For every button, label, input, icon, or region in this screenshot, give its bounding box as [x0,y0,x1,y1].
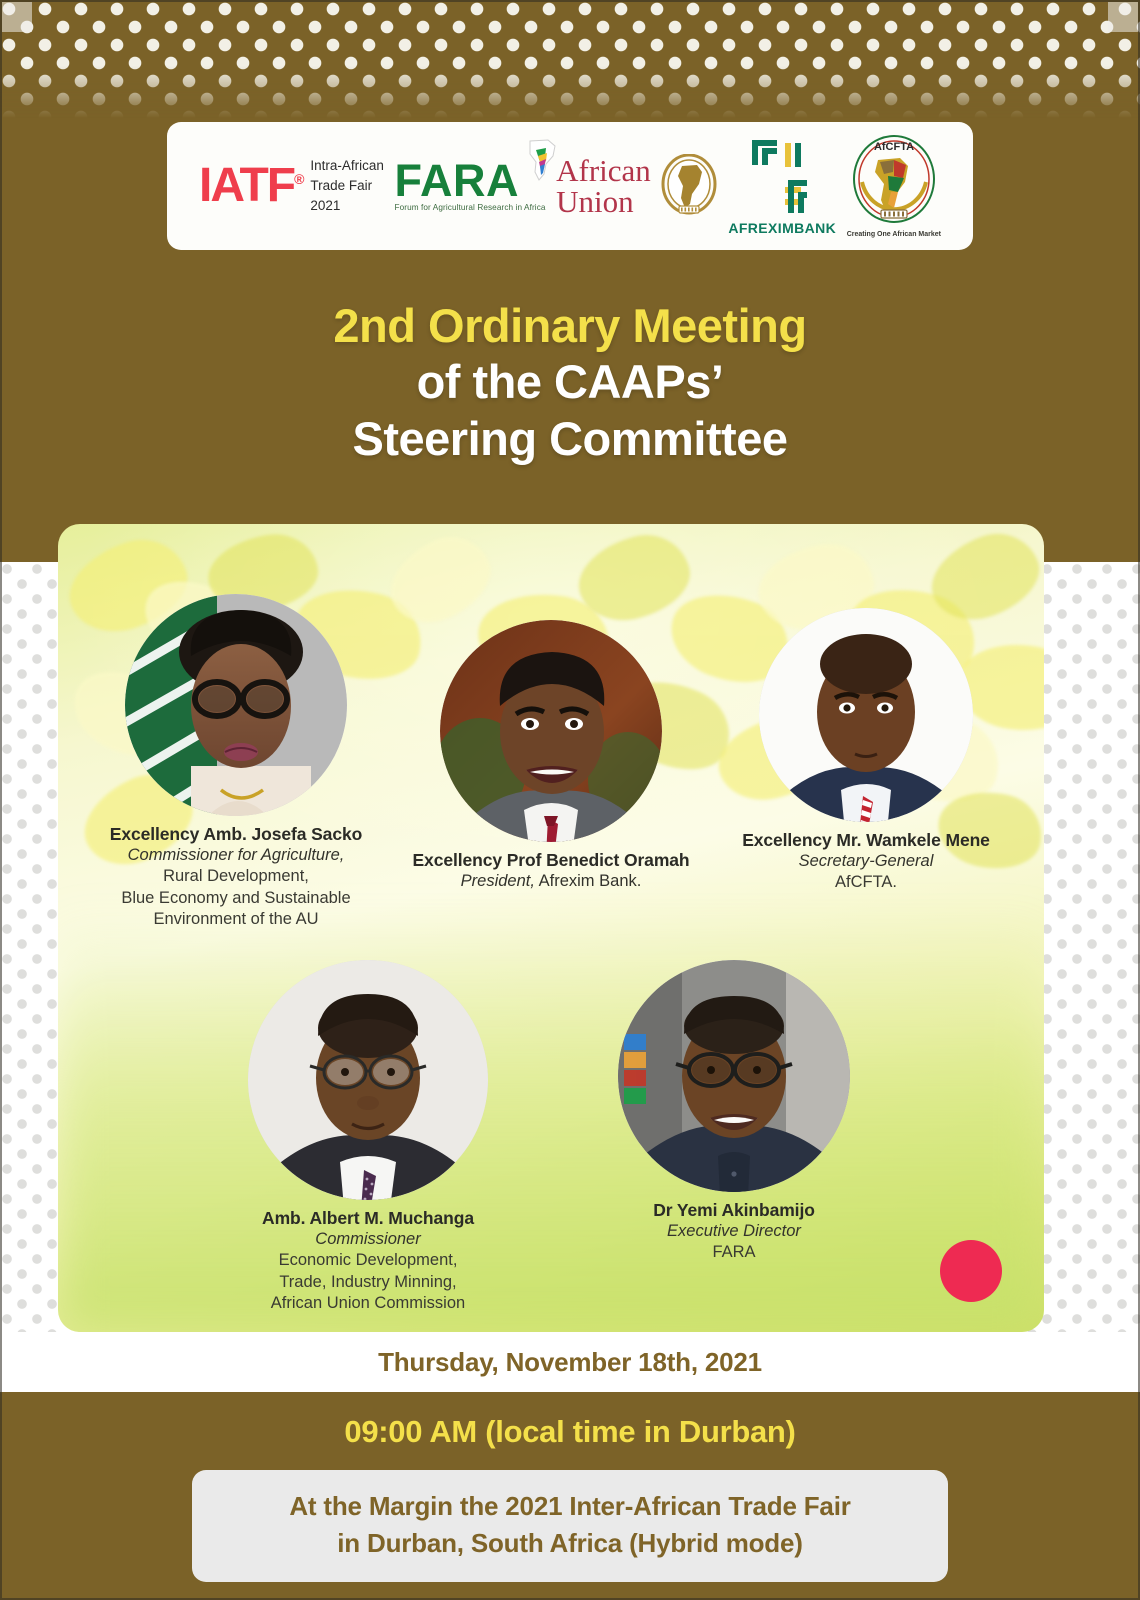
poster-page: IATF® Intra-African Trade Fair 2021 FARA… [0,0,1140,1600]
speaker-name: Excellency Mr. Wamkele Mene [701,830,1031,851]
svg-text:AfCFTA: AfCFTA [874,141,914,153]
speaker-detail-line: AfCFTA. [701,872,1031,893]
speaker-detail-line: Trade, Industry Minning, [218,1272,518,1293]
au-wordmark-line2: Union [556,186,651,217]
caption-josefa-sacko: Excellency Amb. Josefa Sacko Commissione… [71,824,401,930]
african-union-logo: African Union [556,154,718,218]
speaker-role: Commissioner for Agriculture, [71,845,401,866]
fara-wordmark: FARA [394,160,519,203]
speakers-row-1: Excellency Amb. Josefa Sacko Commissione… [58,594,1044,930]
portrait-image [618,960,850,1192]
portrait-albert-muchanga [248,960,488,1200]
au-wordmark: African Union [556,155,651,217]
speaker-detail-line: Environment of the AU [71,909,401,930]
event-time: 09:00 AM (local time in Durban) [0,1414,1140,1450]
africa-outline-icon [522,138,562,182]
speaker-detail-line: Economic Development, [218,1250,518,1271]
speaker-card-yemi-akinbamijo: Dr Yemi Akinbamijo Executive Director FA… [584,960,884,1314]
speaker-role-emphasis: President, [461,872,535,890]
iatf-tagline-line1: Intra-African [310,156,384,176]
event-date-band: Thursday, November 18th, 2021 [0,1332,1140,1392]
caption-yemi-akinbamijo: Dr Yemi Akinbamijo Executive Director FA… [584,1200,884,1264]
speaker-name: Excellency Prof Benedict Oramah [401,850,701,871]
caption-albert-muchanga: Amb. Albert M. Muchanga Commissioner Eco… [218,1208,518,1314]
portrait-wamkele-mene [759,608,973,822]
au-wordmark-line1: African [556,155,651,186]
decorative-pink-circle [940,1240,1002,1302]
iatf-logo: IATF® Intra-African Trade Fair 2021 [199,156,384,216]
iatf-tagline-line2: Trade Fair [310,176,384,196]
portrait-image [440,620,662,842]
portrait-image [759,608,973,822]
caption-benedict-oramah: Excellency Prof Benedict Oramah Presiden… [401,850,701,892]
au-emblem-icon [660,154,718,218]
speaker-card-josefa-sacko: Excellency Amb. Josefa Sacko Commissione… [71,594,401,930]
iatf-wordmark: IATF® [199,162,302,210]
speakers-card: Excellency Amb. Josefa Sacko Commissione… [58,524,1044,1332]
sponsor-logo-bar: IATF® Intra-African Trade Fair 2021 FARA… [167,122,973,250]
speaker-role: President, Afrexim Bank. [401,871,701,892]
event-date: Thursday, November 18th, 2021 [378,1347,762,1378]
speaker-detail-line: African Union Commission [218,1293,518,1314]
portrait-josefa-sacko [125,594,347,816]
portrait-image [248,960,488,1200]
portrait-image [125,594,347,816]
top-dot-pattern [0,0,1140,118]
venue-line-2: in Durban, South Africa (Hybrid mode) [212,1525,928,1562]
speaker-detail-line: Rural Development, [71,866,401,887]
speaker-name: Amb. Albert M. Muchanga [218,1208,518,1229]
afcfta-tagline: Creating One African Market [847,231,941,238]
caption-wamkele-mene: Excellency Mr. Wamkele Mene Secretary-Ge… [701,830,1031,894]
portrait-benedict-oramah [440,620,662,842]
title-line-2: of the CAAPs’ [0,354,1140,410]
afreximbank-wordmark: AFREXIMBANK [728,220,836,236]
speaker-role-rest: Afrexim Bank. [535,872,641,890]
speaker-card-benedict-oramah: Excellency Prof Benedict Oramah Presiden… [401,594,701,930]
portrait-wrap [401,620,701,842]
event-venue-box: At the Margin the 2021 Inter-African Tra… [192,1470,948,1582]
iatf-tagline-line3: 2021 [310,196,384,216]
speaker-detail-line: FARA [584,1242,884,1263]
portrait-wrap [218,960,518,1200]
afcfta-emblem-icon: AfCFTA [848,134,940,230]
speaker-name: Dr Yemi Akinbamijo [584,1200,884,1221]
speaker-card-wamkele-mene: Excellency Mr. Wamkele Mene Secretary-Ge… [701,594,1031,930]
title-line-1: 2nd Ordinary Meeting [0,298,1140,354]
portrait-wrap [701,608,1031,822]
iatf-tagline: Intra-African Trade Fair 2021 [307,156,384,216]
speaker-role: Secretary-General [701,851,1031,872]
portrait-wrap [584,960,884,1192]
title-line-3: Steering Committee [0,411,1140,467]
speaker-name: Excellency Amb. Josefa Sacko [71,824,401,845]
afcfta-logo: AfCFTA Creating One African Market [847,134,941,238]
venue-line-1: At the Margin the 2021 Inter-African Tra… [212,1488,928,1525]
portrait-yemi-akinbamijo [618,960,850,1192]
event-time-band: 09:00 AM (local time in Durban) At the M… [0,1392,1140,1600]
speakers-row-2: Amb. Albert M. Muchanga Commissioner Eco… [58,960,1044,1314]
afreximbank-logo: AFREXIMBANK [728,137,836,236]
speaker-card-albert-muchanga: Amb. Albert M. Muchanga Commissioner Eco… [218,960,518,1314]
speaker-role: Commissioner [218,1229,518,1250]
portrait-wrap [71,594,401,816]
speaker-role: Executive Director [584,1221,884,1242]
afreximbank-mark-icon [743,137,821,219]
fara-tagline: Forum for Agricultural Research in Afric… [394,203,545,212]
poster-title: 2nd Ordinary Meeting of the CAAPs’ Steer… [0,298,1140,467]
fara-logo: FARA Forum for Agricultural Research in … [394,160,545,213]
speaker-detail-line: Blue Economy and Sustainable [71,888,401,909]
